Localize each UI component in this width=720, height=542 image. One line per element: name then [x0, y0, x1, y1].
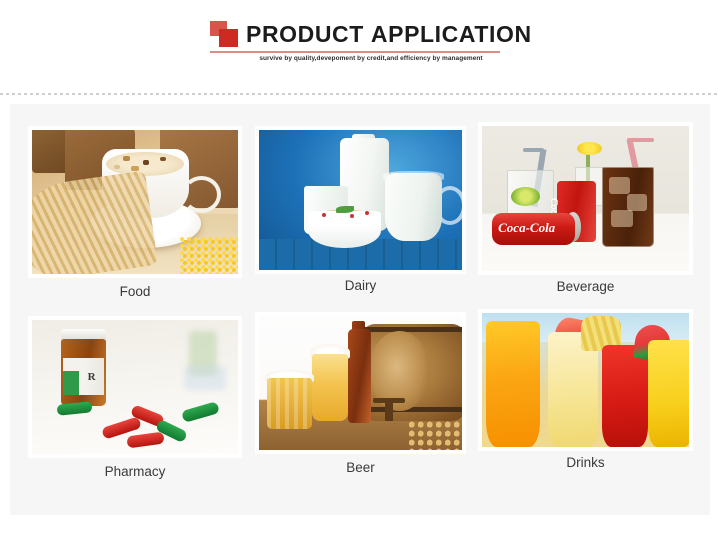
drinks-glass-yellow	[648, 340, 689, 447]
gallery-thumb-drinks[interactable]	[478, 309, 693, 451]
dairy-bowl	[308, 211, 381, 247]
beverage-ice-cube	[627, 194, 647, 211]
beverage-ice-cube	[609, 177, 630, 194]
gallery-item-beer[interactable]: Beer	[255, 312, 466, 492]
pharmacy-capsule-red	[126, 431, 164, 448]
dairy-berry	[365, 211, 369, 215]
dairy-mint-leaf	[336, 206, 354, 213]
gallery-caption-food: Food	[28, 284, 242, 299]
gallery-item-food[interactable]: Food	[28, 126, 242, 306]
beer-grain-pile	[409, 421, 462, 450]
beverage-ice-cube	[611, 210, 633, 227]
page-title-word-2: APPLICATION	[371, 21, 532, 47]
food-flake	[114, 165, 120, 169]
gallery-thumb-food[interactable]	[28, 126, 242, 278]
page-title: PRODUCTAPPLICATION	[246, 21, 532, 47]
gallery-thumb-beer[interactable]	[255, 312, 466, 454]
page-subtitle: survive by quality,devepoment by credit,…	[240, 55, 502, 62]
brand-block: PRODUCTAPPLICATION survive by quality,de…	[210, 17, 510, 51]
gallery-caption-beverage: Beverage	[478, 279, 693, 294]
photo-beer	[259, 316, 462, 450]
pharmacy-label-rx-text: R	[88, 371, 96, 383]
product-gallery-grid: Food	[10, 104, 710, 515]
page-header: PRODUCTAPPLICATION survive by quality,de…	[0, 0, 720, 94]
logo-square-dark-icon	[219, 29, 238, 47]
beverage-glass-right	[602, 167, 654, 247]
pharmacy-capsule-green	[56, 401, 92, 415]
pharmacy-capsule-green	[181, 401, 220, 423]
dairy-milk-jug	[385, 173, 442, 240]
food-flake	[131, 166, 139, 171]
gallery-caption-dairy: Dairy	[255, 278, 466, 293]
pharmacy-label-green-band	[63, 371, 79, 395]
beer-barrel-hoop	[361, 327, 463, 332]
photo-drinks	[482, 313, 689, 447]
gallery-thumb-pharmacy[interactable]: R	[28, 316, 242, 458]
gallery-caption-beer: Beer	[255, 460, 466, 475]
dairy-berry	[322, 213, 326, 217]
gallery-panel: Food	[10, 104, 710, 515]
beverage-flower	[577, 142, 602, 155]
gallery-item-beverage[interactable]: Coca-Cola Coca-Cola Beverage	[478, 122, 693, 304]
beer-mug	[267, 378, 312, 429]
food-flake	[160, 157, 166, 161]
food-corn-kernels	[180, 237, 238, 274]
food-wheat-stalks	[32, 171, 157, 274]
drinks-glass-orange	[486, 321, 540, 447]
gallery-item-pharmacy[interactable]: R Pharmacy	[28, 316, 242, 496]
gallery-thumb-dairy[interactable]	[255, 126, 466, 274]
beverage-cola-can-lying: Coca-Cola	[492, 213, 575, 245]
header-divider	[0, 93, 720, 95]
photo-beverage: Coca-Cola Coca-Cola	[482, 126, 689, 271]
gallery-item-drinks[interactable]: Drinks	[478, 309, 693, 489]
beer-bottle	[348, 329, 370, 423]
gallery-item-dairy[interactable]: Dairy	[255, 126, 466, 306]
product-application-page: PRODUCTAPPLICATION survive by quality,de…	[0, 0, 720, 542]
gallery-caption-pharmacy: Pharmacy	[28, 464, 242, 479]
two-red-squares-logo-icon	[210, 20, 240, 48]
beer-glass	[312, 354, 349, 421]
food-flake	[143, 160, 149, 165]
photo-dairy	[259, 130, 462, 270]
title-underline	[210, 51, 500, 53]
drinks-glass-red	[602, 345, 648, 447]
photo-food	[32, 130, 238, 274]
page-title-word-1: PRODUCT	[246, 21, 364, 47]
gallery-caption-drinks: Drinks	[478, 455, 693, 470]
photo-pharmacy: R	[32, 320, 238, 454]
beer-tap	[385, 399, 393, 420]
food-flake	[123, 156, 130, 161]
cola-can-wordmark: Coca-Cola	[498, 220, 555, 236]
beverage-lime-slice	[511, 187, 540, 206]
brand-title-row: PRODUCTAPPLICATION	[210, 17, 510, 51]
pharmacy-background-blur-blue	[184, 366, 225, 390]
gallery-thumb-beverage[interactable]: Coca-Cola Coca-Cola	[478, 122, 693, 275]
